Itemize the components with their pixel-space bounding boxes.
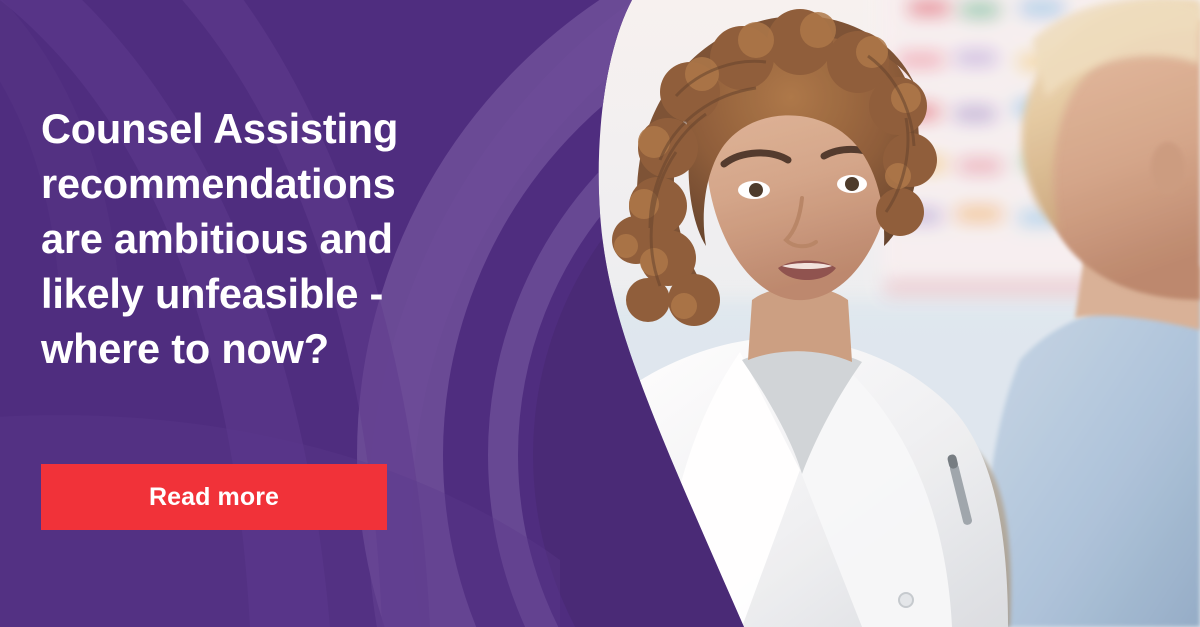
read-more-button[interactable]: Read more (41, 464, 387, 530)
page-title: Counsel Assisting recommendations are am… (41, 101, 521, 376)
promo-banner: Counsel Assisting recommendations are am… (0, 0, 1200, 627)
banner-content: Counsel Assisting recommendations are am… (0, 0, 600, 627)
